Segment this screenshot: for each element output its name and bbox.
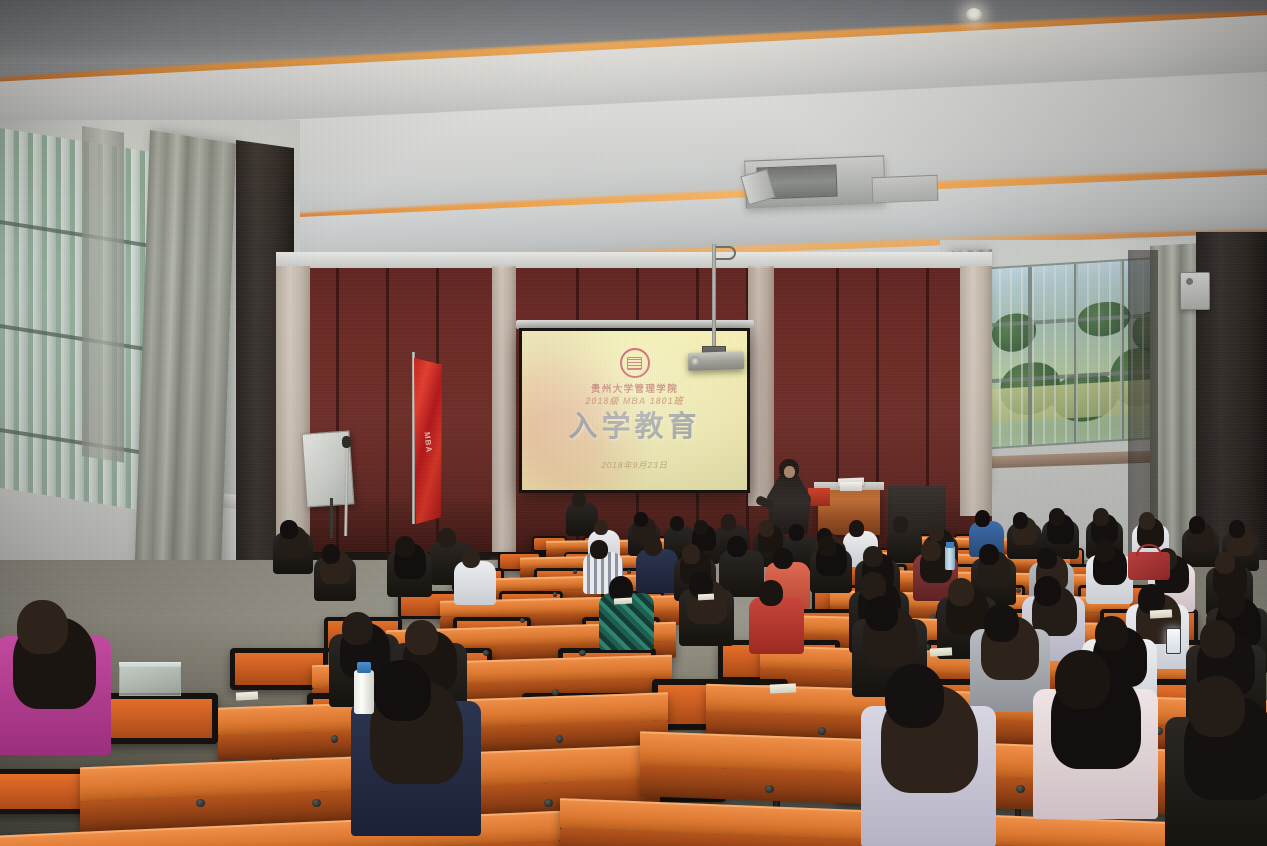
audience-member-torso <box>454 561 497 605</box>
audience-member-head <box>594 520 608 535</box>
audience-member-head <box>984 604 1019 642</box>
desk-screw <box>552 689 559 696</box>
audience-member-head <box>1215 552 1236 574</box>
front-wall-stone-pillar-middle <box>492 266 516 552</box>
audience-member-head <box>948 578 974 606</box>
lectern-red-cloth <box>808 488 830 506</box>
audience-member-head <box>818 536 837 556</box>
projector-cable <box>716 246 736 260</box>
lecture-hall-photo: 贵州大学管理学院 2018级 MBA 1801班 入学教育 2018年9月23日… <box>0 0 1267 846</box>
audience-member-head <box>1034 576 1062 606</box>
desk-papers <box>770 683 796 693</box>
clear-plastic-box-lid <box>119 662 181 667</box>
audience-member-head <box>644 536 663 556</box>
university-seal-logo-inner <box>627 357 642 370</box>
audience-member-head <box>759 520 774 537</box>
front-wall-stone-pillar-left <box>276 266 310 552</box>
slide-title: 入学教育 <box>522 413 747 442</box>
desk-papers <box>1150 609 1172 618</box>
audience-member-head <box>885 664 944 728</box>
audience-member-head <box>342 612 373 645</box>
audience-member-head <box>670 516 684 531</box>
university-seal-logo <box>620 348 650 378</box>
audience-member-head <box>395 536 415 557</box>
left-curtain-secondary <box>82 126 124 463</box>
audience-member-head <box>1037 548 1057 569</box>
desk-screw <box>556 735 564 743</box>
microphone-head <box>342 436 351 448</box>
window-security-bar <box>1087 263 1089 441</box>
audience-member-head <box>1013 512 1028 529</box>
red-handbag <box>1128 552 1170 580</box>
audience-member-head <box>893 516 908 533</box>
window-blind-slat <box>19 131 28 492</box>
window-blind-slat <box>47 135 56 496</box>
window-security-bar <box>1010 268 1012 446</box>
window-security-bar <box>1109 262 1111 440</box>
clear-plastic-box <box>119 664 181 696</box>
audience-member-head <box>759 580 783 606</box>
tissue-box <box>840 482 862 491</box>
audience-member-head <box>979 544 999 565</box>
audience-member-head <box>773 548 793 569</box>
audience-member-head <box>1139 512 1156 530</box>
audience-member-head <box>1093 508 1110 526</box>
desk-screw <box>331 735 339 743</box>
audience-member-head <box>17 600 68 654</box>
audience-member-head <box>1055 650 1110 709</box>
slide-organization-line: 贵州大学管理学院 <box>522 381 747 395</box>
desk-screw <box>483 650 489 656</box>
desk-screw <box>312 799 321 808</box>
desk-papers <box>930 647 952 656</box>
audience-member-head <box>1189 516 1206 534</box>
window-blind-slat <box>33 133 42 494</box>
audience-member-head <box>1218 588 1246 618</box>
audience-member-head <box>863 546 883 567</box>
audience-member-head <box>1188 676 1245 737</box>
front-wall-stone-pillar-right <box>748 266 774 506</box>
desk-screw <box>579 650 585 656</box>
audience-member-torso <box>636 549 679 593</box>
window-security-bar <box>1076 264 1078 442</box>
audience-member-head <box>405 620 438 655</box>
audience-member-head <box>322 544 341 564</box>
audience-member-head <box>1229 520 1246 538</box>
audience-member-head <box>694 520 708 535</box>
desk-screw <box>573 570 577 574</box>
desk-screw <box>544 799 553 808</box>
window-security-bar <box>1065 264 1067 442</box>
desk-papers <box>236 691 258 700</box>
audience-member-head <box>280 520 298 539</box>
presenter-face <box>784 466 795 478</box>
audience-member-head <box>1200 620 1235 658</box>
audience-member-head <box>462 548 481 568</box>
water-bottle-secondary-cap <box>946 542 954 548</box>
audience-member-head <box>572 492 586 507</box>
smartphone <box>1166 628 1181 654</box>
audience-member-head <box>438 528 457 548</box>
wall-speaker-driver <box>1186 278 1193 285</box>
audience-member-head <box>682 544 701 564</box>
audience-member-head <box>849 520 864 537</box>
water-bottle-cap <box>357 662 371 673</box>
desk-screw <box>196 799 205 808</box>
slide-date: 2018年9月23日 <box>522 459 747 471</box>
audience-member-head <box>975 510 990 527</box>
front-wall-stone-pillar-far-right <box>960 266 992 516</box>
audience-member-head <box>721 514 736 531</box>
window-security-bar <box>1054 265 1056 443</box>
audience-member-head <box>727 536 747 557</box>
audience-member-head <box>1095 540 1116 562</box>
window-blind-slat <box>61 138 70 499</box>
window-security-bar <box>1021 267 1023 445</box>
window-blind-slat <box>5 129 14 490</box>
front-wall-cornice <box>276 252 992 268</box>
air-conditioner-vent-secondary <box>872 175 939 204</box>
slide-class-line: 2018级 MBA 1801班 <box>522 394 747 407</box>
audience-member-torso <box>749 597 804 654</box>
desk-papers <box>614 598 632 605</box>
desk-papers <box>698 594 714 601</box>
water-bottle-body <box>354 670 374 714</box>
audience-member-head <box>929 524 944 541</box>
whiteboard-stand <box>330 498 333 538</box>
wall-speaker <box>1180 272 1210 310</box>
audience-member-head <box>634 512 648 527</box>
window-security-bar <box>1120 261 1122 439</box>
desk-screw <box>627 570 631 574</box>
audience-member-head <box>1049 508 1066 526</box>
audience-member-head <box>1095 616 1128 651</box>
projector-mount-pole <box>712 244 716 348</box>
audience-member-head <box>789 524 804 541</box>
audience-member-head <box>374 660 431 721</box>
window-security-bar <box>1043 266 1045 444</box>
window-security-bar <box>1032 267 1034 445</box>
water-bottle-secondary <box>945 546 955 570</box>
downlight-0 <box>966 8 982 21</box>
window-security-bar <box>1098 262 1100 440</box>
audience-member-head <box>590 540 608 559</box>
audience-member-head <box>921 540 941 561</box>
audience-member-head <box>865 596 898 631</box>
window-security-bar <box>999 269 1001 447</box>
